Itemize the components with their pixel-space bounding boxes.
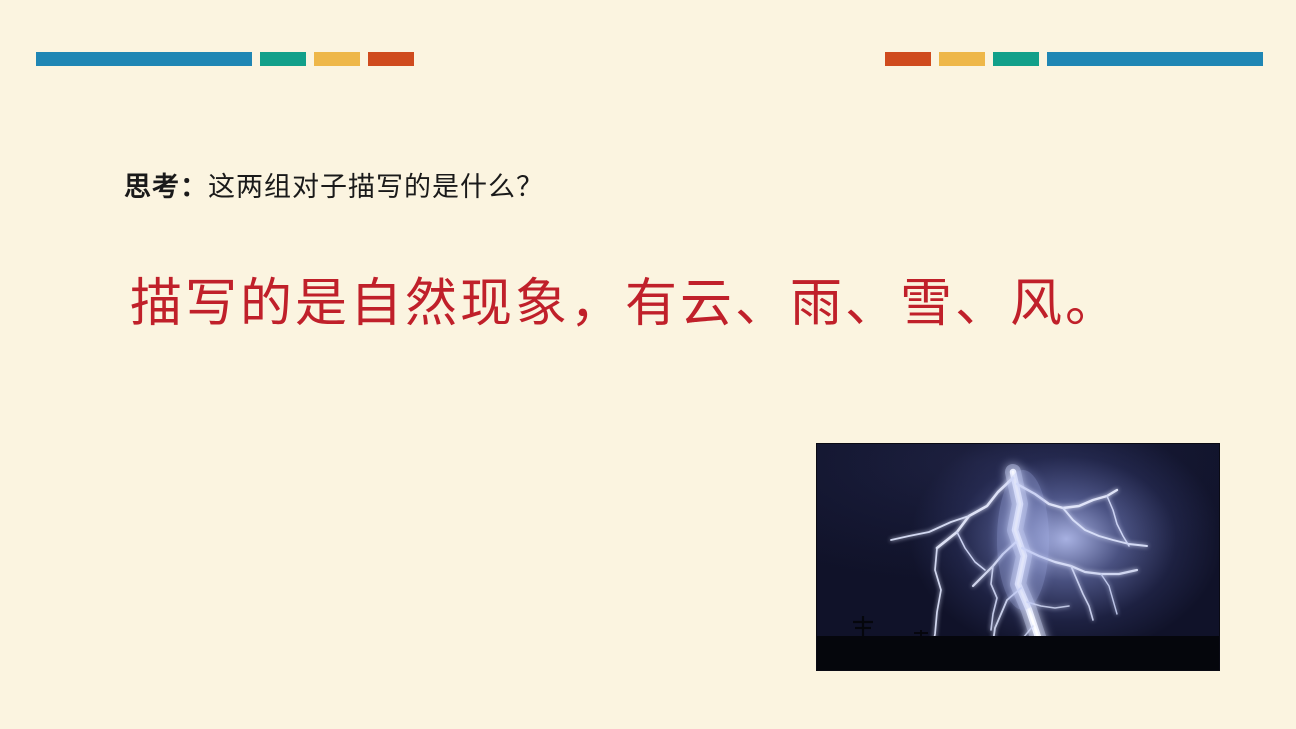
decor-bar-blue-long-left: [36, 52, 252, 66]
photo-ground: [817, 636, 1219, 670]
question-line: 思考：这两组对子描写的是什么？: [124, 168, 544, 206]
decor-bar-teal-right: [993, 52, 1039, 66]
decor-bar-orange-right: [885, 52, 931, 66]
question-label: 思考：: [124, 172, 208, 202]
decor-bar-orange-left: [368, 52, 414, 66]
slide-canvas: 思考：这两组对子描写的是什么？ 描写的是自然现象，有云、雨、雪、风。: [0, 0, 1296, 729]
answer-line: 描写的是自然现象，有云、雨、雪、风。: [130, 270, 1120, 340]
decor-bar-group-left: [36, 52, 414, 66]
decor-bar-yellow-left: [314, 52, 360, 66]
decor-bar-blue-long-right: [1047, 52, 1263, 66]
decor-bar-yellow-right: [939, 52, 985, 66]
question-text: 这两组对子描写的是什么？: [208, 172, 544, 202]
decor-bar-group-right: [885, 52, 1263, 66]
decor-bar-teal-left: [260, 52, 306, 66]
lightning-photo: [817, 444, 1219, 670]
